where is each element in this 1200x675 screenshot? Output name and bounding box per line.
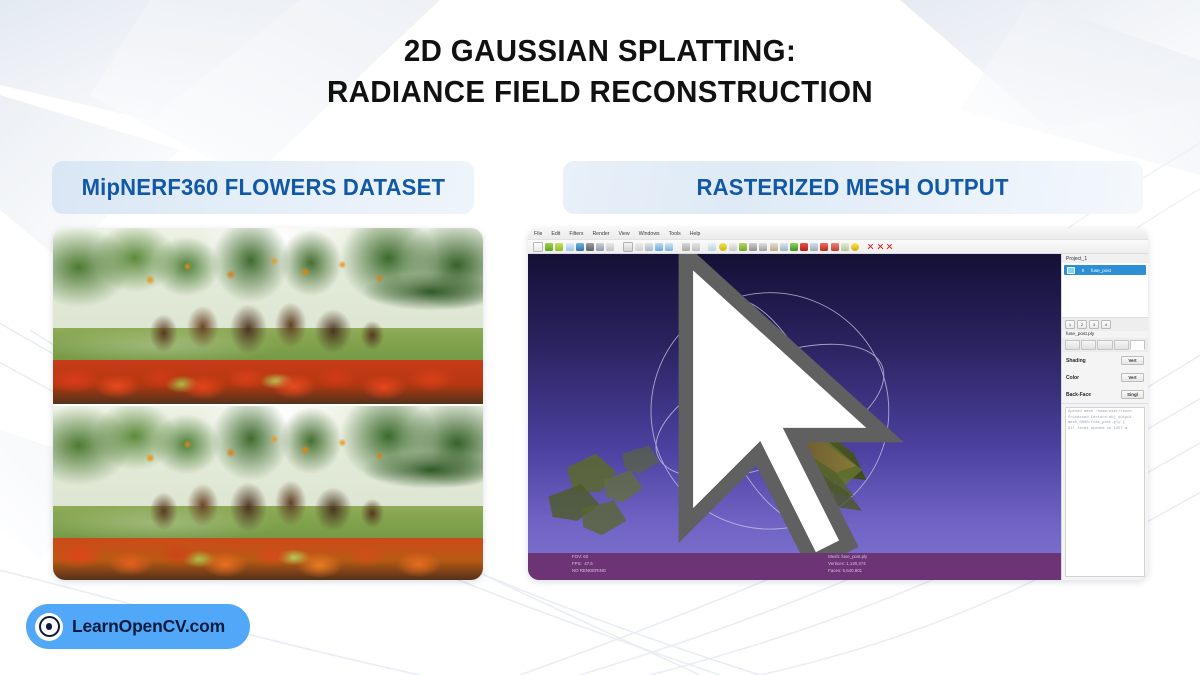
- back-face-dropdown[interactable]: Singl: [1121, 390, 1144, 399]
- render-tab-2[interactable]: [1081, 340, 1096, 350]
- page-title: 2D GAUSSIAN SPLATTING: RADIANCE FIELD RE…: [0, 30, 1200, 112]
- slice-icon[interactable]: [800, 243, 808, 251]
- remesh-icon[interactable]: [831, 243, 839, 251]
- delete-face-icon[interactable]: [867, 243, 874, 251]
- property-row-back-face: Back-Face Singl: [1062, 386, 1148, 403]
- select-vertex-icon[interactable]: [665, 243, 673, 251]
- photo-flower-bed: [53, 360, 483, 404]
- save-project-icon[interactable]: [576, 243, 584, 251]
- cleanup-icon[interactable]: [841, 243, 849, 251]
- right-dock-panel: Project_1 0 fuse_post 1 2 3 4 fuse_post.…: [1061, 254, 1148, 580]
- shading-label: Shading: [1066, 358, 1086, 364]
- measure-icon[interactable]: [645, 243, 653, 251]
- texture-icon[interactable]: [790, 243, 798, 251]
- layer-dialog-icon[interactable]: [596, 243, 604, 251]
- menu-item-filters[interactable]: Filters: [569, 231, 583, 237]
- log-output-panel[interactable]: Opened mesh /home/user/recon Processed t…: [1065, 407, 1145, 577]
- aperture-ring: [39, 616, 60, 637]
- light-icon[interactable]: [719, 243, 727, 251]
- render-tab-4[interactable]: [1114, 340, 1129, 350]
- dataset-image-card: [53, 228, 483, 580]
- render-panel: 1 2 3 4 fuse_post.ply Shading Vert: [1062, 318, 1148, 404]
- dataset-image-bottom: [53, 404, 483, 580]
- right-panel-header-label: RASTERIZED MESH OUTPUT: [697, 174, 1009, 201]
- property-row-shading: Shading Vert: [1062, 352, 1148, 369]
- fill-icon[interactable]: [749, 243, 757, 251]
- reload-icon[interactable]: [566, 243, 574, 251]
- photo-canna-blooms: [113, 431, 423, 477]
- dataset-image-top: [53, 228, 483, 404]
- layer-panel: Project_1 0 fuse_post: [1062, 254, 1148, 318]
- select-face-icon[interactable]: [655, 243, 663, 251]
- paint-icon[interactable]: [739, 243, 747, 251]
- hole-fill-icon[interactable]: [810, 243, 818, 251]
- copy-icon[interactable]: [606, 243, 614, 251]
- right-panel-header: RASTERIZED MESH OUTPUT: [563, 161, 1143, 214]
- menu-item-render[interactable]: Render: [592, 231, 609, 237]
- logo-label: LearnOpenCV.com: [72, 616, 225, 637]
- shading-dropdown[interactable]: Vert: [1121, 356, 1144, 365]
- smooth-icon[interactable]: [820, 243, 828, 251]
- left-panel-header-label: MipNERF360 FLOWERS DATASET: [81, 174, 445, 201]
- left-panel-header: MipNERF360 FLOWERS DATASET: [52, 161, 474, 214]
- aperture-dot: [46, 623, 53, 630]
- render-tab-5[interactable]: [1130, 340, 1145, 350]
- photo-flower-bed: [53, 538, 483, 580]
- color-picker-icon[interactable]: [770, 243, 778, 251]
- import-mesh-icon[interactable]: [555, 243, 563, 251]
- status-bar: FOV: 60 FPS: 47.6 NO RENDERING Mesh: fus…: [528, 553, 1061, 580]
- quality-mapper-icon[interactable]: [780, 243, 788, 251]
- aperture-target-icon: [35, 613, 63, 641]
- menu-item-file[interactable]: File: [534, 231, 542, 237]
- title-line-1: 2D GAUSSIAN SPLATTING:: [30, 30, 1170, 71]
- render-tab-1[interactable]: [1065, 340, 1080, 350]
- menu-item-view[interactable]: View: [618, 231, 629, 237]
- pointer-icon[interactable]: [729, 243, 737, 251]
- status-mesh-stats: Mesh: fuse_post.ply Vertices: 1,120,374 …: [828, 554, 867, 574]
- decorate-icon[interactable]: [692, 243, 700, 251]
- log-line: Opened mesh /home/user/recon: [1068, 410, 1142, 416]
- mini-tab-1[interactable]: 1: [1065, 320, 1075, 329]
- open-project-icon[interactable]: [545, 243, 553, 251]
- mouse-pointer-icon: [528, 254, 1061, 580]
- meshlab-body: FOV: 60 FPS: 47.6 NO RENDERING Mesh: fus…: [528, 254, 1148, 580]
- mini-tab-row: 1 2 3 4: [1062, 318, 1148, 331]
- info-icon[interactable]: [851, 243, 859, 251]
- visibility-eye-icon[interactable]: [1067, 267, 1075, 274]
- paste-icon[interactable]: [623, 242, 633, 252]
- learnopencv-logo[interactable]: LearnOpenCV.com: [26, 604, 250, 649]
- rotate-icon[interactable]: [708, 243, 716, 251]
- meshlab-window: File Edit Filters Render View Windows To…: [528, 228, 1148, 580]
- tool-bar: [528, 240, 1148, 254]
- menu-item-windows[interactable]: Windows: [639, 231, 660, 237]
- menu-bar: File Edit Filters Render View Windows To…: [528, 228, 1148, 240]
- render-tab-row: [1062, 338, 1148, 352]
- log-line: All faces opened in 1257 m: [1068, 427, 1142, 433]
- selected-mesh-name: fuse_post.ply: [1062, 331, 1148, 338]
- menu-item-help[interactable]: Help: [690, 231, 701, 237]
- new-project-icon[interactable]: [533, 242, 543, 252]
- property-row-color: Color Vert: [1062, 369, 1148, 386]
- 3d-viewport[interactable]: FOV: 60 FPS: 47.6 NO RENDERING Mesh: fus…: [528, 254, 1061, 580]
- layer-name: fuse_post: [1091, 268, 1111, 273]
- layer-list[interactable]: 0 fuse_post: [1062, 263, 1148, 317]
- mini-tab-2[interactable]: 2: [1077, 320, 1087, 329]
- menu-item-tools[interactable]: Tools: [669, 231, 681, 237]
- delete-vertex-icon[interactable]: [877, 243, 884, 251]
- layer-panel-title: Project_1: [1062, 254, 1148, 263]
- layer-row-fuse-post[interactable]: 0 fuse_post: [1064, 265, 1146, 275]
- zpainting-icon[interactable]: [759, 243, 767, 251]
- color-dropdown[interactable]: Vert: [1121, 373, 1144, 382]
- back-face-label: Back-Face: [1066, 392, 1091, 398]
- menu-item-edit[interactable]: Edit: [551, 231, 560, 237]
- title-line-2: RADIANCE FIELD RECONSTRUCTION: [30, 71, 1170, 112]
- render-tab-3[interactable]: [1097, 340, 1112, 350]
- status-fov-fps: FOV: 60 FPS: 47.6 NO RENDERING: [572, 554, 606, 574]
- align-icon[interactable]: [635, 243, 643, 251]
- layer-index: 0: [1079, 268, 1087, 273]
- mini-tab-3[interactable]: 3: [1089, 320, 1099, 329]
- color-label: Color: [1066, 375, 1079, 381]
- split-view-icon[interactable]: [682, 243, 690, 251]
- save-snapshot-icon[interactable]: [586, 243, 594, 251]
- delete-mesh-icon[interactable]: [886, 243, 893, 251]
- photo-canna-blooms: [113, 253, 423, 299]
- mini-tab-4[interactable]: 4: [1101, 320, 1111, 329]
